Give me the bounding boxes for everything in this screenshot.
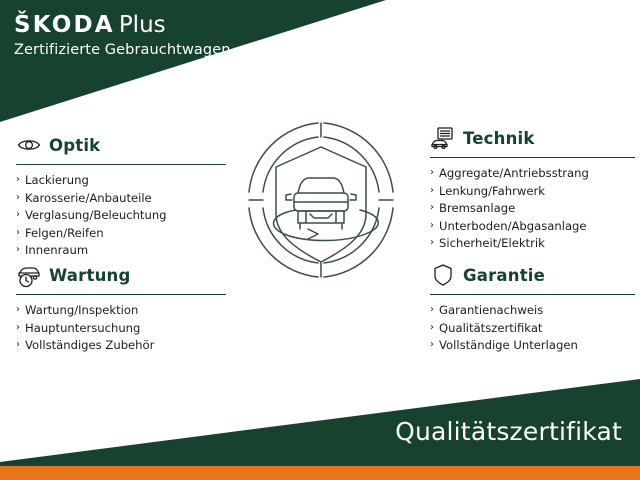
- shield-car-rotation-icon: [236, 110, 406, 290]
- section-technik-header: Technik: [430, 125, 635, 151]
- list-item: ›Lackierung: [16, 172, 226, 190]
- list-item: ›Aggregate/Antriebsstrang: [430, 165, 635, 183]
- section-technik-list: ›Aggregate/Antriebsstrang ›Lenkung/Fahrw…: [430, 165, 635, 253]
- orange-bar: [0, 466, 640, 480]
- list-item-label: Vollständige Unterlagen: [439, 338, 578, 352]
- chevron-right-icon: ›: [430, 302, 434, 317]
- section-garantie-divider: [430, 294, 635, 295]
- section-wartung-header: Wartung: [16, 262, 226, 288]
- chevron-right-icon: ›: [430, 337, 434, 352]
- list-item: ›Garantienachweis: [430, 302, 635, 320]
- chevron-right-icon: ›: [16, 320, 20, 335]
- section-wartung-list: ›Wartung/Inspektion ›Hauptuntersuchung ›…: [16, 302, 226, 355]
- list-item: ›Vollständige Unterlagen: [430, 337, 635, 355]
- chevron-right-icon: ›: [430, 218, 434, 233]
- section-optik-header: Optik: [16, 132, 226, 158]
- list-item-label: Bremsanlage: [439, 201, 515, 215]
- chevron-right-icon: ›: [16, 190, 20, 205]
- eye-icon: [16, 132, 42, 158]
- section-wartung: Wartung ›Wartung/Inspektion ›Hauptunters…: [16, 262, 226, 355]
- chevron-right-icon: ›: [16, 207, 20, 222]
- chevron-right-icon: ›: [16, 337, 20, 352]
- car-clock-icon: [16, 262, 42, 288]
- list-item-label: Wartung/Inspektion: [25, 303, 138, 317]
- list-item: ›Vollständiges Zubehör: [16, 337, 226, 355]
- list-item-label: Vollständiges Zubehör: [25, 338, 154, 352]
- section-technik-divider: [430, 157, 635, 158]
- list-item-label: Felgen/Reifen: [25, 226, 104, 240]
- section-technik-title: Technik: [463, 129, 535, 148]
- chevron-right-icon: ›: [430, 200, 434, 215]
- section-optik: Optik ›Lackierung ›Karosserie/Anbauteile…: [16, 132, 226, 260]
- chevron-right-icon: ›: [430, 165, 434, 180]
- section-wartung-title: Wartung: [49, 266, 130, 285]
- list-item-label: Qualitätszertifikat: [439, 321, 542, 335]
- chevron-right-icon: ›: [16, 172, 20, 187]
- list-item-label: Innenraum: [25, 243, 88, 257]
- brand-tagline: Zertifizierte Gebrauchtwagen: [14, 43, 231, 58]
- list-item: ›Unterboden/Abgasanlage: [430, 218, 635, 236]
- section-garantie-list: ›Garantienachweis ›Qualitätszertifikat ›…: [430, 302, 635, 355]
- chevron-right-icon: ›: [16, 242, 20, 257]
- engine-car-icon: [430, 125, 456, 151]
- chevron-right-icon: ›: [16, 302, 20, 317]
- brand-name: ŠKODA: [14, 12, 115, 38]
- brand-logo-line1: ŠKODAPlus: [14, 14, 231, 37]
- list-item: ›Wartung/Inspektion: [16, 302, 226, 320]
- list-item-label: Hauptuntersuchung: [25, 321, 140, 335]
- footer-caption: Qualitätszertifikat: [395, 417, 622, 446]
- section-optik-list: ›Lackierung ›Karosserie/Anbauteile ›Verg…: [16, 172, 226, 260]
- certificate-page: ŠKODAPlus Zertifizierte Gebrauchtwagen: [0, 0, 640, 480]
- list-item-label: Lackierung: [25, 173, 89, 187]
- chevron-right-icon: ›: [430, 235, 434, 250]
- section-optik-divider: [16, 164, 226, 165]
- chevron-right-icon: ›: [430, 183, 434, 198]
- list-item: ›Hauptuntersuchung: [16, 320, 226, 338]
- list-item: ›Sicherheit/Elektrik: [430, 235, 635, 253]
- section-garantie-title: Garantie: [463, 266, 545, 285]
- list-item-label: Garantienachweis: [439, 303, 543, 317]
- list-item: ›Bremsanlage: [430, 200, 635, 218]
- section-optik-title: Optik: [49, 136, 100, 155]
- section-garantie: Garantie ›Garantienachweis ›Qualitätszer…: [430, 262, 635, 355]
- list-item-label: Verglasung/Beleuchtung: [25, 208, 167, 222]
- section-technik: Technik ›Aggregate/Antriebsstrang ›Lenku…: [430, 125, 635, 253]
- list-item: ›Lenkung/Fahrwerk: [430, 183, 635, 201]
- list-item: ›Innenraum: [16, 242, 226, 260]
- shield-icon: [430, 262, 456, 288]
- brand-sub-name: Plus: [119, 12, 166, 38]
- chevron-right-icon: ›: [430, 320, 434, 335]
- brand-logo: ŠKODAPlus Zertifizierte Gebrauchtwagen: [14, 14, 231, 58]
- section-garantie-header: Garantie: [430, 262, 635, 288]
- list-item: ›Verglasung/Beleuchtung: [16, 207, 226, 225]
- list-item: ›Qualitätszertifikat: [430, 320, 635, 338]
- list-item-label: Lenkung/Fahrwerk: [439, 184, 545, 198]
- list-item-label: Unterboden/Abgasanlage: [439, 219, 587, 233]
- list-item: ›Felgen/Reifen: [16, 225, 226, 243]
- list-item-label: Sicherheit/Elektrik: [439, 236, 545, 250]
- list-item: ›Karosserie/Anbauteile: [16, 190, 226, 208]
- list-item-label: Karosserie/Anbauteile: [25, 191, 152, 205]
- section-wartung-divider: [16, 294, 226, 295]
- list-item-label: Aggregate/Antriebsstrang: [439, 166, 589, 180]
- chevron-right-icon: ›: [16, 225, 20, 240]
